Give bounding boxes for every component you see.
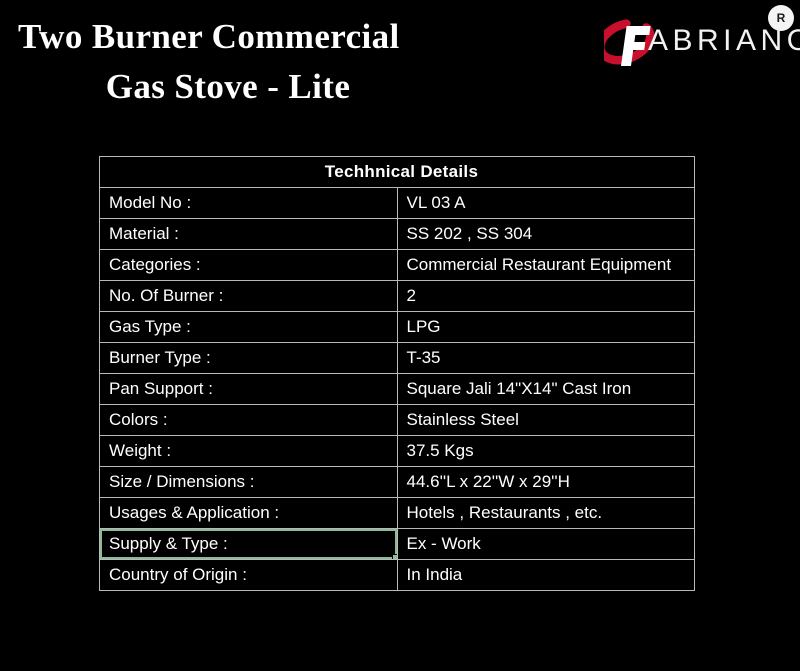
spec-value-cell[interactable]: 37.5 Kgs [397,436,695,467]
table-row: Categories :Commercial Restaurant Equipm… [100,250,695,281]
table-row: Pan Support :Square Jali 14"X14" Cast Ir… [100,374,695,405]
spec-label-cell[interactable]: Categories : [100,250,398,281]
table-row: Size / Dimensions :44.6''L x 22''W x 29'… [100,467,695,498]
table-header-row: Techhnical Details [100,157,695,188]
spec-label-cell[interactable]: Material : [100,219,398,250]
spec-value-cell[interactable]: T-35 [397,343,695,374]
spec-label-cell[interactable]: Gas Type : [100,312,398,343]
spec-label-cell[interactable]: Model No : [100,188,398,219]
spec-value-cell[interactable]: Ex - Work [397,529,695,560]
spec-label-cell[interactable]: Size / Dimensions : [100,467,398,498]
brand-logo: ABRIANO [600,14,792,80]
spec-label-cell[interactable]: Burner Type : [100,343,398,374]
table-row: Weight :37.5 Kgs [100,436,695,467]
page-title: Two Burner Commercial Gas Stove - Lite [14,12,534,112]
cell-fill-handle[interactable] [392,554,398,560]
table-row: Gas Type :LPG [100,312,695,343]
spec-value-cell[interactable]: Square Jali 14"X14" Cast Iron [397,374,695,405]
registered-trademark-icon: R [768,5,794,31]
spec-value-cell[interactable]: Commercial Restaurant Equipment [397,250,695,281]
spec-value-cell[interactable]: In India [397,560,695,591]
spec-value-cell[interactable]: LPG [397,312,695,343]
spec-label-cell[interactable]: Colors : [100,405,398,436]
spec-value-cell[interactable]: SS 202 , SS 304 [397,219,695,250]
spec-value-cell[interactable]: Stainless Steel [397,405,695,436]
spec-value-cell[interactable]: Hotels , Restaurants , etc. [397,498,695,529]
technical-details-panel: Techhnical Details Model No :VL 03 AMate… [99,156,695,604]
spec-value-cell[interactable]: 44.6''L x 22''W x 29''H [397,467,695,498]
product-title-line-1: Two Burner Commercial [14,12,534,62]
technical-details-heading: Techhnical Details [100,157,695,188]
spec-label-cell[interactable]: Weight : [100,436,398,467]
spec-label-cell[interactable]: Supply & Type : [100,529,398,560]
table-row: No. Of Burner :2 [100,281,695,312]
spec-label-cell[interactable]: Usages & Application : [100,498,398,529]
table-row: Country of Origin :In India [100,560,695,591]
technical-details-table: Techhnical Details Model No :VL 03 AMate… [99,156,695,591]
table-row: Usages & Application :Hotels , Restauran… [100,498,695,529]
spec-value-cell[interactable]: VL 03 A [397,188,695,219]
spec-label-cell[interactable]: Pan Support : [100,374,398,405]
table-row: Burner Type :T-35 [100,343,695,374]
table-row: Supply & Type :Ex - Work [100,529,695,560]
table-row: Material :SS 202 , SS 304 [100,219,695,250]
spec-label-cell[interactable]: Country of Origin : [100,560,398,591]
spec-value-cell[interactable]: 2 [397,281,695,312]
table-row: Model No :VL 03 A [100,188,695,219]
product-title-line-2: Gas Stove - Lite [14,62,534,112]
spec-label-cell[interactable]: No. Of Burner : [100,281,398,312]
table-row: Colors :Stainless Steel [100,405,695,436]
page-header: Two Burner Commercial Gas Stove - Lite A… [0,0,800,140]
